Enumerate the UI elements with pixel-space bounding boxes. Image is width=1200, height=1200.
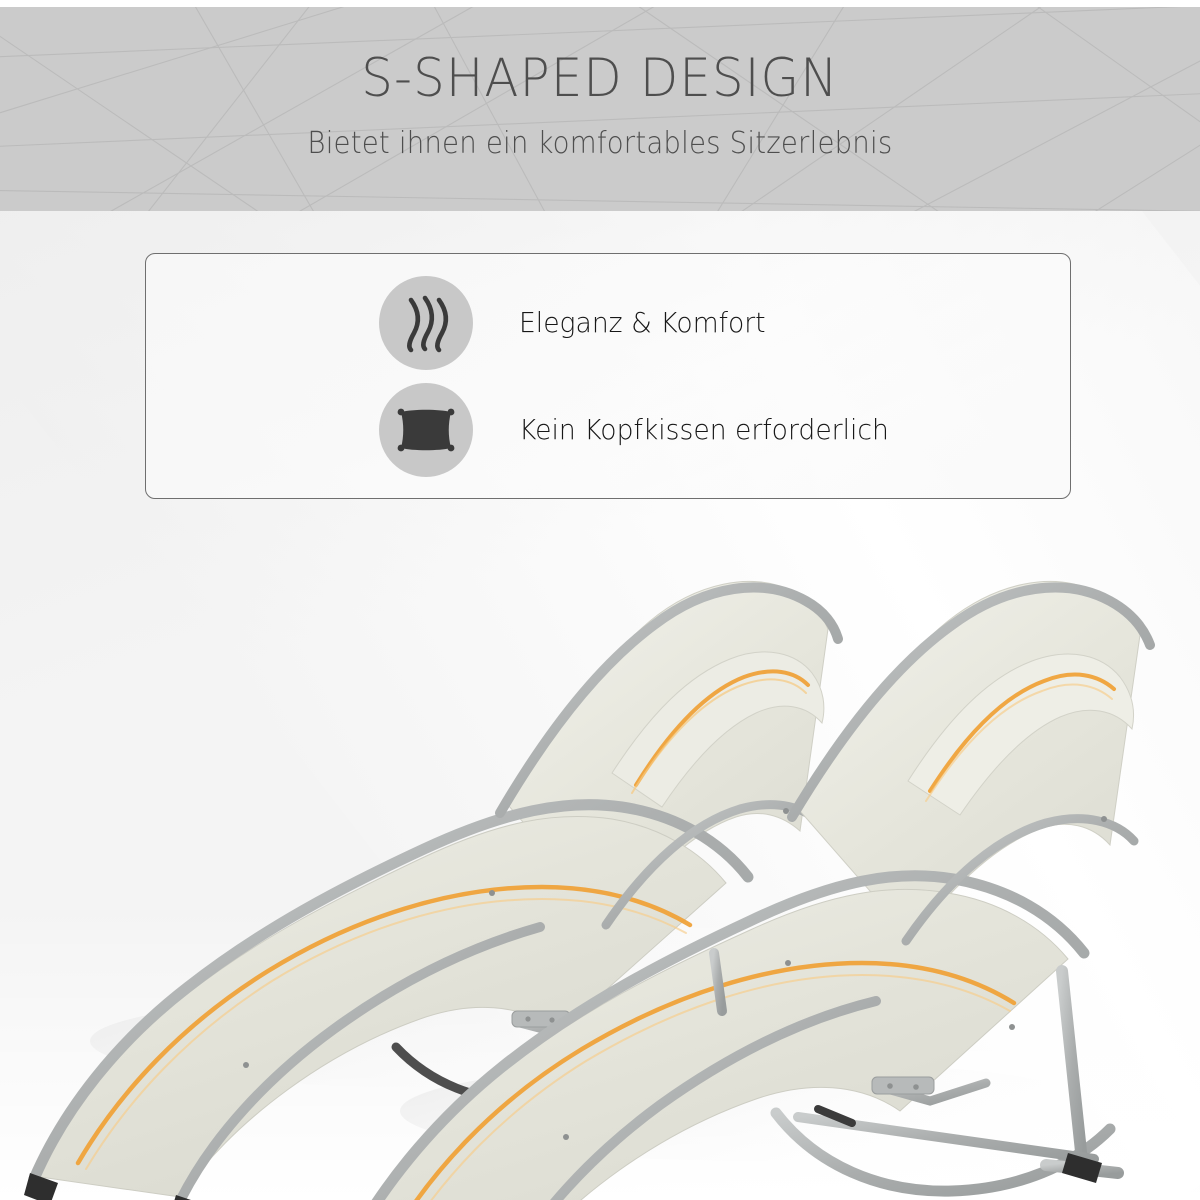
feature-label-pillow: Kein Kopfkissen erforderlich xyxy=(519,413,889,446)
pillow-icon xyxy=(395,406,457,454)
page-subtitle: Bietet ihnen ein komfortables Sitzerlebn… xyxy=(308,129,893,159)
feature-badge-elegance xyxy=(379,276,473,370)
product-feature-banner: S-SHAPED DESIGN Bietet ihnen ein komfort… xyxy=(0,0,1200,1200)
feature-badge-pillow xyxy=(379,383,473,477)
feature-label-elegance: Eleganz & Komfort xyxy=(519,306,766,339)
page-title: S-SHAPED DESIGN xyxy=(361,52,838,105)
feature-row-pillow: Kein Kopfkissen erforderlich xyxy=(379,376,1070,483)
header-band: S-SHAPED DESIGN Bietet ihnen ein komfort… xyxy=(0,0,1200,211)
feature-card: Eleganz & Komfort Kein Kopfkissen erford… xyxy=(145,253,1071,499)
steam-waves-icon xyxy=(398,292,454,354)
feature-row-elegance: Eleganz & Komfort xyxy=(379,269,1070,376)
top-white-strip xyxy=(0,0,1200,7)
header-text-block: S-SHAPED DESIGN Bietet ihnen ein komfort… xyxy=(0,0,1200,211)
